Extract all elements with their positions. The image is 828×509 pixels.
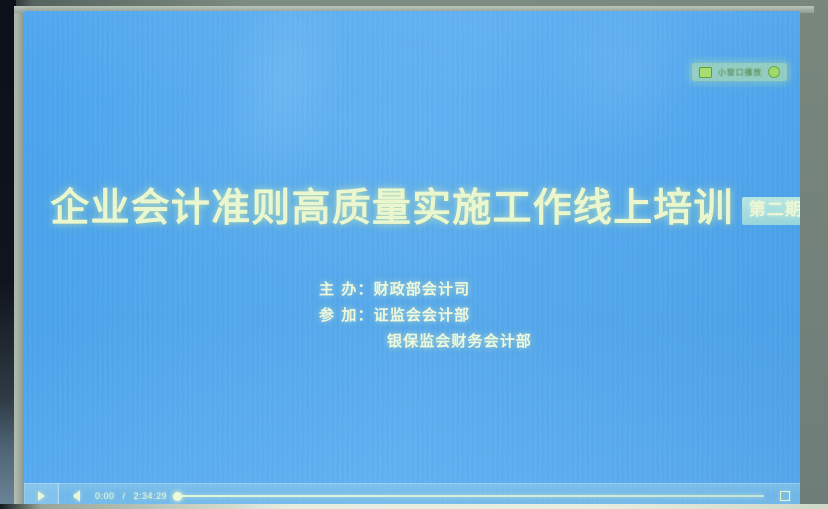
- play-icon: [38, 491, 45, 501]
- projector-glare-right: [544, 11, 704, 161]
- small-window-playback-label: 小窗口播放: [718, 67, 762, 78]
- subtitle-row-participant-2: 银保监会财务会计部: [319, 327, 532, 353]
- photo-of-projected-screen: 小窗口播放 企业会计准则高质量实施工作线上培训 第二期 主 办：财政部会计司 参…: [0, 0, 828, 509]
- volume-icon: [73, 490, 80, 502]
- circle-icon: [768, 66, 780, 78]
- slide-title: 企业会计准则高质量实施工作线上培训 第二期: [62, 189, 798, 228]
- picture-in-picture-icon: [699, 67, 712, 78]
- subtitle-row-participant-1: 参 加：证监会会计部: [319, 301, 532, 327]
- progress-rail: [180, 495, 764, 497]
- slide-title-text: 企业会计准则高质量实施工作线上培训: [50, 189, 733, 228]
- current-time: 0:00: [95, 491, 115, 501]
- slide-subtitle-block: 主 办：财政部会计司 参 加：证监会会计部 银保监会财务会计部: [319, 275, 532, 353]
- room-wall-right: [800, 0, 828, 509]
- projection-texture: [24, 11, 800, 509]
- desk-reflection-strip: [0, 504, 828, 509]
- total-time: 2:34:29: [134, 491, 168, 501]
- projected-slide: 小窗口播放 企业会计准则高质量实施工作线上培训 第二期 主 办：财政部会计司 参…: [24, 11, 800, 509]
- slide-title-session-badge: 第二期: [742, 197, 800, 225]
- small-window-playback-badge[interactable]: 小窗口播放: [692, 63, 787, 81]
- progress-knob[interactable]: [173, 492, 182, 501]
- time-separator: /: [123, 491, 126, 501]
- fullscreen-icon: [780, 491, 790, 501]
- time-display: 0:00 / 2:34:29: [93, 491, 173, 501]
- projector-glare-left: [206, 11, 362, 200]
- subtitle-row-organizer: 主 办：财政部会计司: [319, 275, 532, 301]
